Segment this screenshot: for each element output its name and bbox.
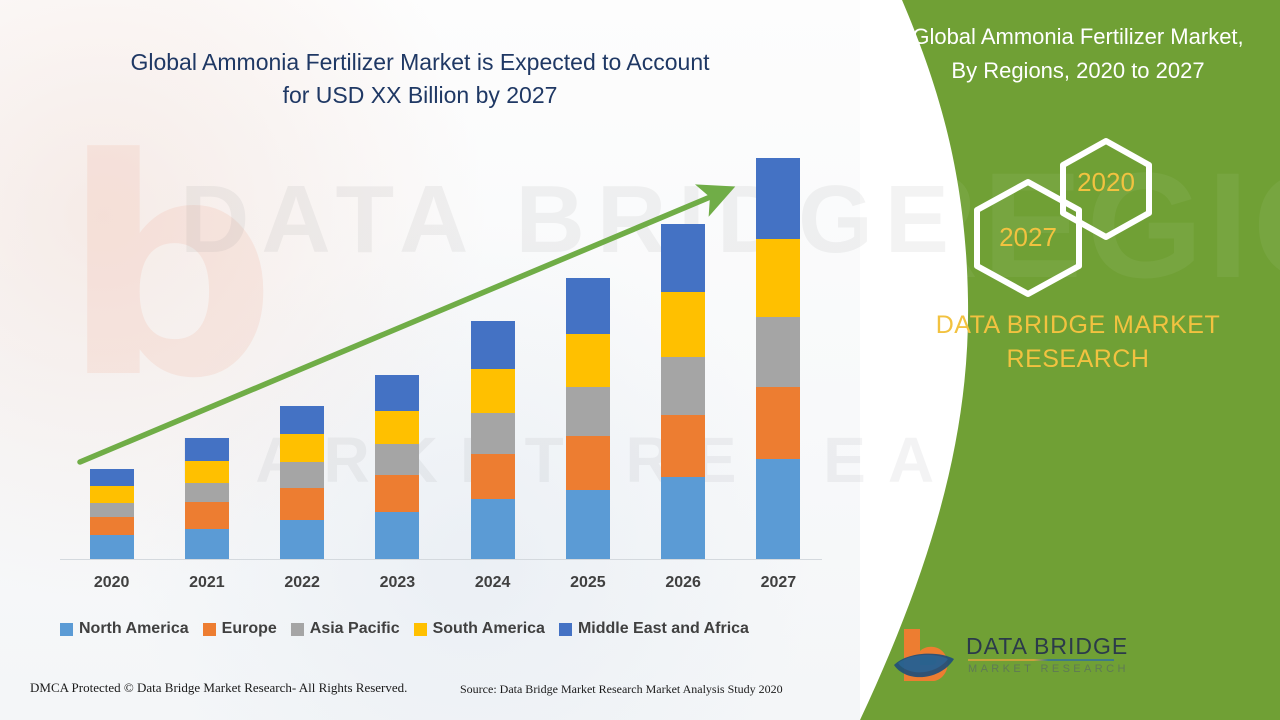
segment-middle-east-and-africa	[280, 406, 324, 434]
footer: DMCA Protected © Data Bridge Market Rese…	[0, 680, 860, 710]
segment-asia-pacific	[280, 462, 324, 488]
segment-south-america	[566, 334, 610, 387]
panel-title: Global Ammonia Fertilizer Market, By Reg…	[880, 20, 1276, 88]
segment-asia-pacific	[756, 317, 800, 387]
segment-north-america	[375, 512, 419, 559]
hexagon-2020-label: 2020	[1053, 167, 1159, 198]
segment-south-america	[375, 411, 419, 444]
panel-brand-line-1: DATA BRIDGE MARKET	[880, 308, 1276, 342]
segment-north-america	[185, 529, 229, 559]
x-label-2021: 2021	[172, 574, 242, 592]
x-label-2024: 2024	[458, 574, 528, 592]
logo-mark-icon	[890, 625, 962, 695]
segment-south-america	[471, 369, 515, 413]
segment-europe	[661, 415, 705, 477]
legend-swatch-icon	[291, 623, 304, 636]
infographic-canvas: b DATA BRIDGE MARKET RESEARCH Global Amm…	[0, 0, 1280, 720]
bar-2022	[280, 406, 324, 559]
legend-swatch-icon	[414, 623, 427, 636]
legend-swatch-icon	[60, 623, 73, 636]
segment-north-america	[90, 535, 134, 559]
legend-label: Middle East and Africa	[578, 620, 749, 638]
panel-brand: DATA BRIDGE MARKET RESEARCH	[880, 308, 1276, 376]
bar-2026	[661, 224, 705, 559]
segment-asia-pacific	[566, 387, 610, 436]
stacked-bar-chart	[60, 130, 822, 560]
segment-middle-east-and-africa	[375, 375, 419, 410]
data-bridge-logo: DATA BRIDGE MARKET RESEARCH	[890, 625, 1120, 697]
hexagon-pair: 2020 2027	[965, 135, 1195, 300]
segment-south-america	[661, 292, 705, 357]
logo-tagline: MARKET RESEARCH	[968, 663, 1129, 675]
chart-title-line-2: for USD XX Billion by 2027	[60, 79, 780, 112]
segment-europe	[471, 454, 515, 499]
segment-europe	[185, 502, 229, 529]
segment-middle-east-and-africa	[566, 278, 610, 334]
segment-south-america	[280, 434, 324, 462]
logo-wordmark: DATA BRIDGE	[966, 633, 1128, 660]
x-label-2025: 2025	[553, 574, 623, 592]
logo-divider	[968, 659, 1114, 661]
segment-europe	[90, 517, 134, 535]
segment-asia-pacific	[661, 357, 705, 415]
bar-2024	[471, 321, 515, 559]
segment-middle-east-and-africa	[185, 438, 229, 462]
segment-south-america	[756, 239, 800, 317]
segment-north-america	[661, 477, 705, 559]
segment-north-america	[566, 490, 610, 559]
segment-asia-pacific	[471, 413, 515, 454]
hexagon-2027-label: 2027	[965, 222, 1091, 253]
segment-north-america	[280, 520, 324, 559]
footer-source: Source: Data Bridge Market Research Mark…	[460, 682, 783, 697]
legend-item-europe[interactable]: Europe	[203, 620, 277, 638]
segment-south-america	[185, 461, 229, 483]
segment-asia-pacific	[185, 483, 229, 502]
panel-title-line-2: By Regions, 2020 to 2027	[880, 54, 1276, 88]
chart-legend: North AmericaEuropeAsia PacificSouth Ame…	[60, 616, 850, 642]
legend-swatch-icon	[559, 623, 572, 636]
x-label-2020: 2020	[77, 574, 147, 592]
legend-label: North America	[79, 620, 189, 638]
legend-swatch-icon	[203, 623, 216, 636]
x-label-2023: 2023	[362, 574, 432, 592]
segment-middle-east-and-africa	[756, 158, 800, 239]
segment-middle-east-and-africa	[661, 224, 705, 293]
segment-asia-pacific	[90, 503, 134, 517]
x-axis-line	[60, 559, 822, 560]
segment-north-america	[756, 459, 800, 559]
chart-title-line-1: Global Ammonia Fertilizer Market is Expe…	[60, 46, 780, 79]
segment-middle-east-and-africa	[90, 469, 134, 486]
segment-europe	[280, 488, 324, 520]
chart-title: Global Ammonia Fertilizer Market is Expe…	[60, 46, 780, 112]
legend-item-north-america[interactable]: North America	[60, 620, 189, 638]
legend-label: Asia Pacific	[310, 620, 400, 638]
legend-item-middle-east-and-africa[interactable]: Middle East and Africa	[559, 620, 749, 638]
segment-south-america	[90, 486, 134, 503]
legend-label: South America	[433, 620, 545, 638]
x-label-2026: 2026	[648, 574, 718, 592]
footer-copyright: DMCA Protected © Data Bridge Market Rese…	[30, 680, 407, 696]
x-axis-labels: 20202021202220232024202520262027	[60, 574, 822, 598]
legend-label: Europe	[222, 620, 277, 638]
segment-europe	[756, 387, 800, 459]
x-label-2027: 2027	[743, 574, 813, 592]
panel-brand-line-2: RESEARCH	[880, 342, 1276, 376]
x-label-2022: 2022	[267, 574, 337, 592]
bar-2025	[566, 278, 610, 559]
segment-europe	[375, 475, 419, 512]
bar-2020	[90, 469, 134, 559]
bar-2027	[756, 158, 800, 559]
segment-asia-pacific	[375, 444, 419, 475]
segment-middle-east-and-africa	[471, 321, 515, 368]
bar-2023	[375, 375, 419, 559]
segment-north-america	[471, 499, 515, 559]
panel-title-line-1: Global Ammonia Fertilizer Market,	[880, 20, 1276, 54]
bar-2021	[185, 438, 229, 559]
legend-item-south-america[interactable]: South America	[414, 620, 545, 638]
segment-europe	[566, 436, 610, 490]
legend-item-asia-pacific[interactable]: Asia Pacific	[291, 620, 400, 638]
